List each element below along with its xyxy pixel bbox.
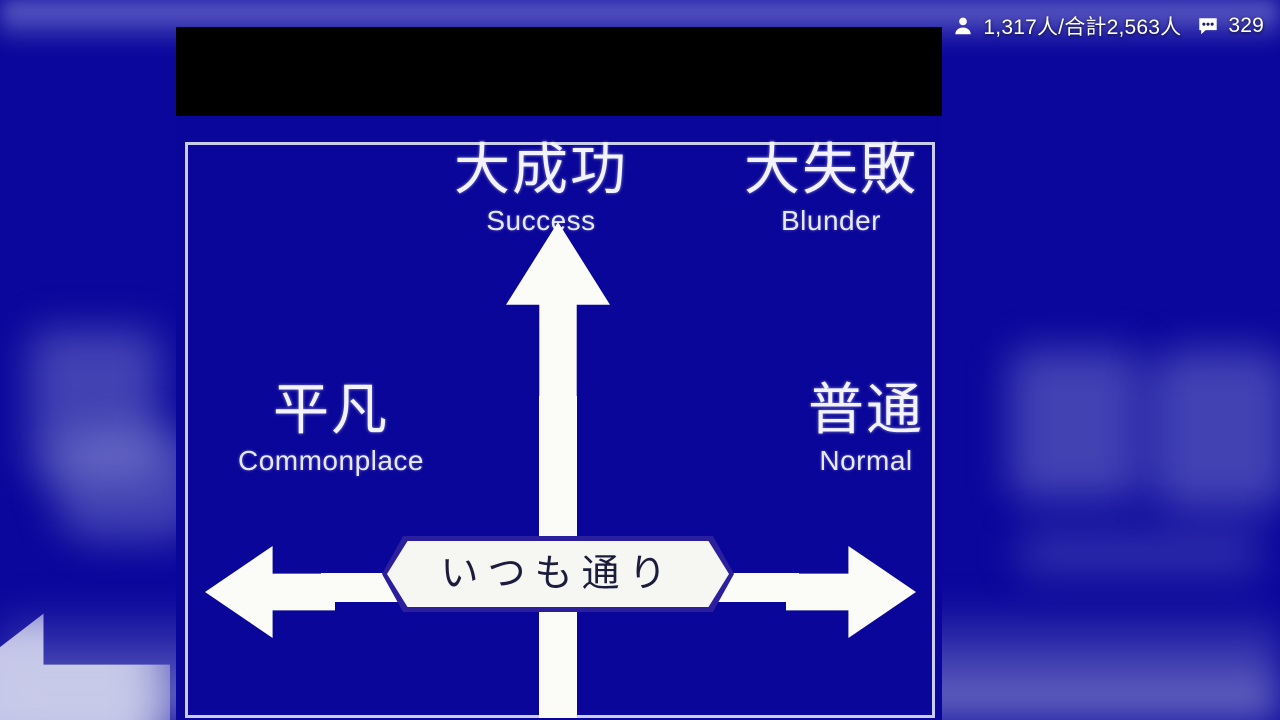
person-icon xyxy=(952,15,974,37)
blurred-kanji-right-1 xyxy=(1010,350,1140,500)
label-blunder: 大失敗 Blunder xyxy=(706,141,942,242)
blurred-kanji-right-2 xyxy=(1150,350,1280,510)
label-normal-jp: 普通 xyxy=(746,381,942,440)
label-normal: 普通 Normal xyxy=(746,381,942,482)
center-plaque: いつも通り xyxy=(382,536,734,612)
label-success-jp: 大成功 xyxy=(416,141,666,200)
video-frame[interactable]: 大成功 Success 大失敗 Blunder 平凡 Commonplace 普… xyxy=(176,27,942,720)
viewer-count-stat: 1,317人/合計2,563人 xyxy=(952,11,1181,41)
road-sign: 大成功 Success 大失敗 Blunder 平凡 Commonplace 普… xyxy=(176,116,942,720)
label-blunder-en: Blunder xyxy=(706,200,942,242)
video-player-stage: 大成功 Success 大失敗 Blunder 平凡 Commonplace 普… xyxy=(0,0,1280,720)
comment-bubble-icon xyxy=(1197,15,1219,37)
label-success-en: Success xyxy=(416,200,666,242)
center-plaque-label: いつも通り xyxy=(440,555,675,593)
label-commonplace: 平凡 Commonplace xyxy=(186,381,476,482)
blurred-text-right-3 xyxy=(1020,530,1260,576)
label-commonplace-en: Commonplace xyxy=(186,440,476,482)
comment-count-text: 329 xyxy=(1228,14,1264,38)
label-commonplace-jp: 平凡 xyxy=(186,381,476,440)
player-status-bar: 1,317人/合計2,563人 329 xyxy=(952,11,1264,41)
viewer-count-text: 1,317人/合計2,563人 xyxy=(983,11,1181,41)
label-success: 大成功 Success xyxy=(416,141,666,242)
comment-count-stat: 329 xyxy=(1197,14,1264,38)
label-normal-en: Normal xyxy=(746,440,942,482)
label-blunder-jp: 大失敗 xyxy=(706,141,942,200)
